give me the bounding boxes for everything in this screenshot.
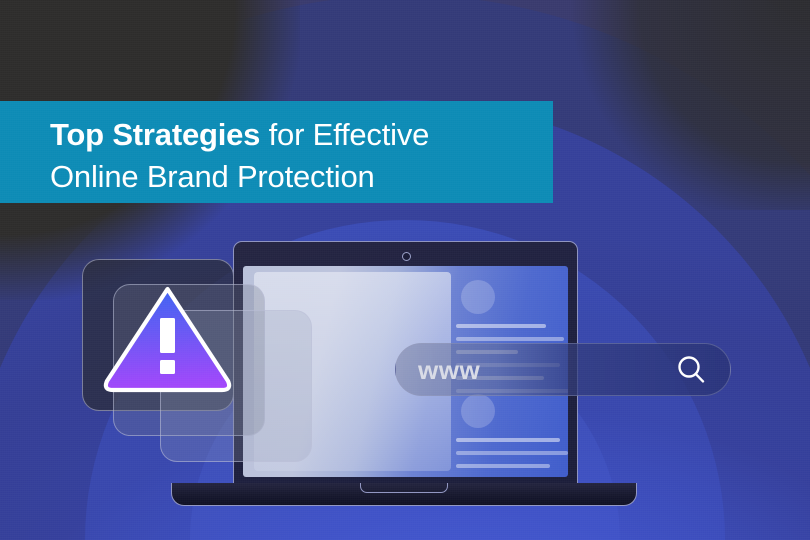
search-input-value[interactable]: www (418, 357, 480, 383)
title-banner: Top Strategies for Effective Online Bran… (0, 101, 553, 203)
banner-graphic: www Top Strategies for Effective Online … (0, 0, 810, 540)
title-rest: for Effective (260, 117, 429, 152)
screen-avatar-circle-top (461, 280, 495, 314)
screen-text-line (456, 464, 550, 468)
camera-dot-icon (402, 252, 411, 261)
laptop-base (171, 483, 637, 506)
screen-text-line (456, 324, 546, 328)
search-icon[interactable] (674, 353, 708, 387)
warning-triangle-icon (100, 281, 235, 396)
search-bar[interactable]: www (395, 343, 731, 396)
screen-avatar-circle-bottom (461, 394, 495, 428)
screen-text-line (456, 337, 564, 341)
screen-text-line (456, 451, 568, 455)
title-line-1: Top Strategies for Effective (50, 114, 553, 156)
laptop-trackpad-notch (360, 483, 448, 493)
title-strong: Top Strategies (50, 117, 260, 152)
title-line-2: Online Brand Protection (50, 156, 553, 198)
screen-text-line (456, 438, 560, 442)
